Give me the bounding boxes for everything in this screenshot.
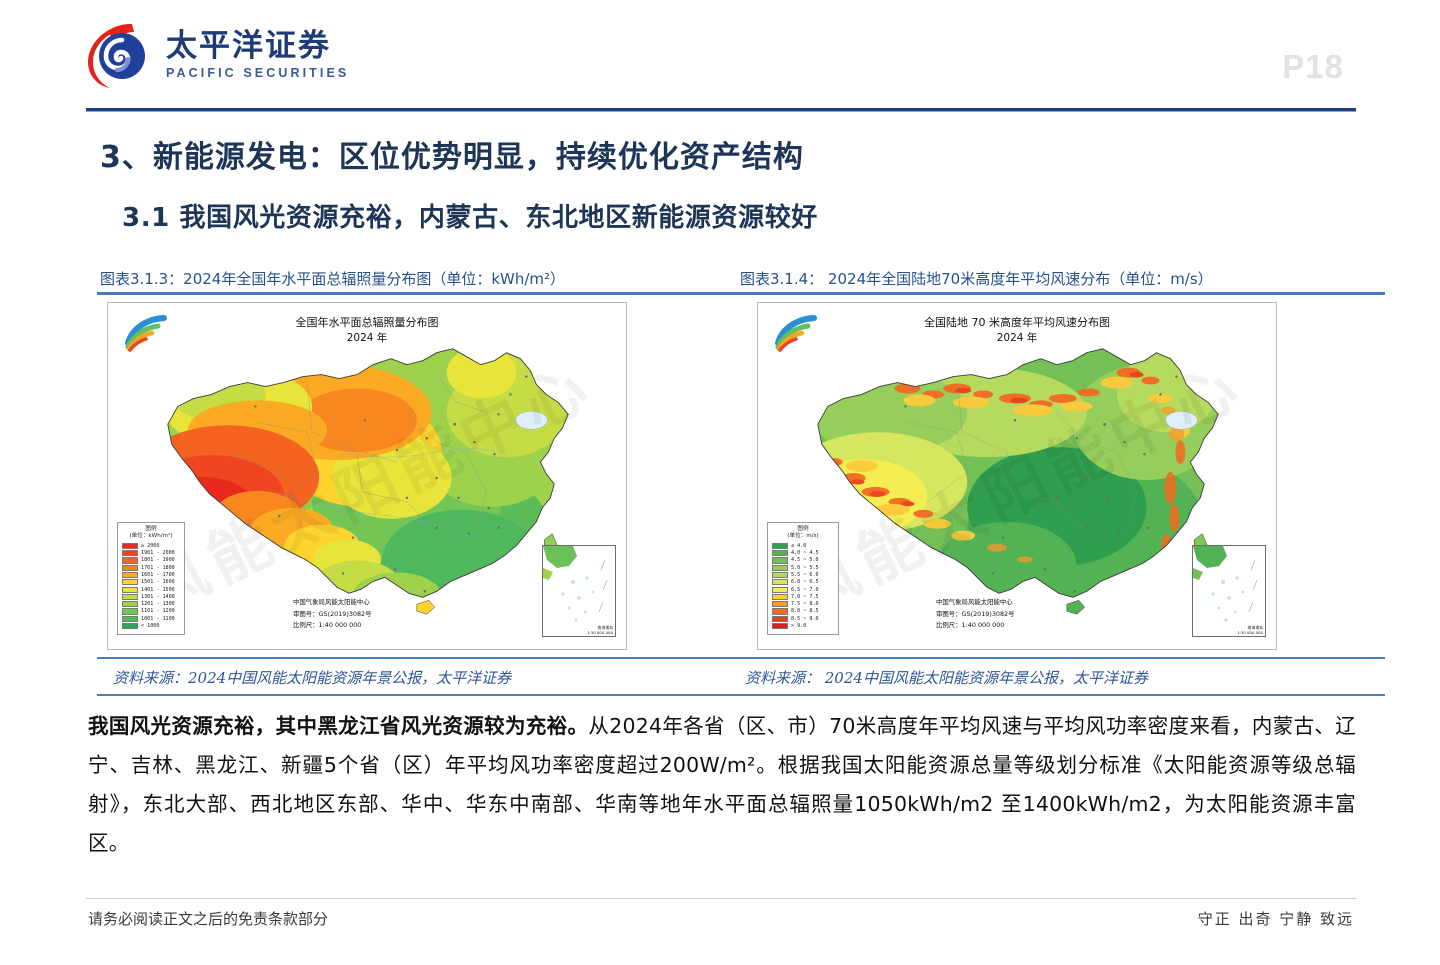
legend-swatch <box>772 543 788 549</box>
legend-label: 5.0 ~ 5.5 <box>791 565 819 571</box>
source-divider-bottom <box>97 694 1385 696</box>
map-attribution-right: 中国气象局风能太阳能中心 审图号：GS(2019)3082号 比例尺：1:40 … <box>936 597 1014 631</box>
caption-divider <box>97 292 1385 295</box>
legend-swatch <box>772 579 788 585</box>
legend-unit: (单位：kWh/m²) <box>122 533 180 541</box>
legend-label: 6.0 ~ 6.5 <box>791 579 819 585</box>
legend-item: 1201 - 1300 <box>122 601 180 608</box>
legend-item: 1501 - 1600 <box>122 579 180 586</box>
attribution-line: 审图号：GS(2019)3082号 <box>936 609 1014 620</box>
south-sea-inset-left: 南海诸岛1:30 000 000 <box>542 545 616 637</box>
figure-caption-left: 图表3.1.3：2024年全国年水平面总辐照量分布图（单位：kWh/m²） <box>100 268 565 289</box>
attribution-line: 中国气象局风能太阳能中心 <box>936 597 1014 608</box>
legend-rows: ≥ 20001901 - 20001801 - 19001701 - 18001… <box>122 543 180 630</box>
cma-logo-icon <box>772 313 820 353</box>
legend-label: 1601 - 1700 <box>141 572 175 578</box>
legend-label: 8.5 ~ 9.0 <box>791 616 819 622</box>
brand-name-en: PACIFIC SECURITIES <box>166 66 349 80</box>
legend-label: 4.0 ~ 4.5 <box>791 550 819 556</box>
legend-label: 1301 - 1400 <box>141 594 175 600</box>
legend-item: 4.0 ~ 4.5 <box>772 550 834 557</box>
legend-item: 1301 - 1400 <box>122 594 180 601</box>
legend-rows: ≤ 4.04.0 ~ 4.54.5 ~ 5.05.0 ~ 5.55.5 ~ 6.… <box>772 543 834 630</box>
body-lead: 我国风光资源充裕，其中黑龙江省风光资源较为充裕。 <box>88 714 588 738</box>
legend-label: 5.5 ~ 6.0 <box>791 572 819 578</box>
legend-item: 1701 - 1800 <box>122 564 180 571</box>
legend-item: 1101 - 1200 <box>122 608 180 615</box>
brand-name-cn: 太平洋证券 <box>166 30 349 63</box>
header-divider <box>86 108 1356 111</box>
attribution-line: 比例尺：1:40 000 000 <box>936 620 1014 631</box>
source-right: 资料来源： 2024中国风能太阳能资源年景公报，太平洋证券 <box>745 667 1148 688</box>
legend-label: 1101 - 1200 <box>141 608 175 614</box>
pacific-securities-swirl-logo-icon <box>82 18 156 92</box>
legend-item: 4.5 ~ 5.0 <box>772 557 834 564</box>
legend-label: 7.5 ~ 8.0 <box>791 601 819 607</box>
legend-swatch <box>772 565 788 571</box>
section-title: 3、新能源发电：区位优势明显，持续优化资产结构 <box>100 132 804 176</box>
legend-label: 1201 - 1300 <box>141 601 175 607</box>
legend-unit: (单位：m/s) <box>772 533 834 541</box>
slide-page: 太平洋证券 PACIFIC SECURITIES P18 3、新能源发电：区位优… <box>0 0 1440 965</box>
legend-label: 8.0 ~ 8.5 <box>791 608 819 614</box>
legend-item: 1001 - 1100 <box>122 615 180 622</box>
source-left: 资料来源：2024中国风能太阳能资源年景公报，太平洋证券 <box>113 667 511 688</box>
legend-swatch <box>772 557 788 563</box>
brand-logo: 太平洋证券 PACIFIC SECURITIES <box>82 18 349 92</box>
legend-swatch <box>122 616 138 622</box>
legend-label: > 9.0 <box>791 623 806 629</box>
legend-item: ≥ 2000 <box>122 543 180 550</box>
legend-label: < 1000 <box>141 623 159 629</box>
legend-item: 7.5 ~ 8.0 <box>772 601 834 608</box>
legend-label: 1401 - 1500 <box>141 587 175 593</box>
legend-item: 6.0 ~ 6.5 <box>772 579 834 586</box>
legend-swatch <box>122 594 138 600</box>
legend-swatch <box>122 601 138 607</box>
legend-title: 图例 <box>772 526 834 534</box>
inset-label: 南海诸岛1:30 000 000 <box>1237 625 1263 635</box>
page-number: P18 <box>1282 48 1344 86</box>
inset-label: 南海诸岛1:30 000 000 <box>587 625 613 635</box>
legend-label: ≤ 4.0 <box>791 543 806 549</box>
legend-item: 5.0 ~ 5.5 <box>772 564 834 571</box>
page-header: 太平洋证券 PACIFIC SECURITIES P18 <box>0 0 1440 120</box>
legend-solar: 图例 (单位：kWh/m²) ≥ 20001901 - 20001801 - 1… <box>117 522 185 635</box>
footer-disclaimer: 请务必阅读正文之后的免责条款部分 <box>88 908 328 929</box>
legend-label: 4.5 ~ 5.0 <box>791 557 819 563</box>
legend-swatch <box>772 601 788 607</box>
legend-swatch <box>122 579 138 585</box>
legend-item: 8.5 ~ 9.0 <box>772 615 834 622</box>
legend-item: 7.0 ~ 7.5 <box>772 594 834 601</box>
legend-label: 1501 - 1600 <box>141 579 175 585</box>
legend-item: 1801 - 1900 <box>122 557 180 564</box>
footer-slogan: 守正 出奇 宁静 致远 <box>1198 908 1354 929</box>
legend-label: 1901 - 2000 <box>141 550 175 556</box>
south-sea-inset-right: 南海诸岛1:30 000 000 <box>1192 545 1266 637</box>
legend-swatch <box>772 594 788 600</box>
legend-swatch <box>772 608 788 614</box>
subsection-title: 3.1 我国风光资源充裕，内蒙古、东北地区新能源资源较好 <box>122 197 818 234</box>
legend-swatch <box>772 572 788 578</box>
legend-item: 5.5 ~ 6.0 <box>772 572 834 579</box>
legend-swatch <box>772 587 788 593</box>
body-paragraph: 我国风光资源充裕，其中黑龙江省风光资源较为充裕。从2024年各省（区、市）70米… <box>88 707 1356 863</box>
legend-swatch <box>122 543 138 549</box>
legend-item: 1901 - 2000 <box>122 550 180 557</box>
legend-swatch <box>122 550 138 556</box>
legend-item: > 9.0 <box>772 623 834 630</box>
legend-label: 1701 - 1800 <box>141 565 175 571</box>
legend-label: 1001 - 1100 <box>141 616 175 622</box>
attribution-line: 中国气象局风能太阳能中心 <box>293 597 371 608</box>
figure-caption-right: 图表3.1.4： 2024年全国陆地70米高度年平均风速分布（单位：m/s） <box>740 268 1213 289</box>
legend-swatch <box>772 623 788 629</box>
map-attribution-left: 中国气象局风能太阳能中心 审图号：GS(2019)3082号 比例尺：1:40 … <box>293 597 371 631</box>
attribution-line: 审图号：GS(2019)3082号 <box>293 609 371 620</box>
legend-item: 6.5 ~ 7.0 <box>772 586 834 593</box>
legend-item: < 1000 <box>122 623 180 630</box>
legend-item: 8.0 ~ 8.5 <box>772 608 834 615</box>
legend-item: 1401 - 1500 <box>122 586 180 593</box>
legend-swatch <box>122 623 138 629</box>
legend-swatch <box>122 608 138 614</box>
source-divider-top <box>97 657 1385 659</box>
figure-wind-speed-map: 风能太阳能中心 全国陆地 70 米高度年平均风速分布图 2024 年 图例 (单… <box>757 302 1277 650</box>
footer-divider <box>86 898 1356 899</box>
legend-item: ≤ 4.0 <box>772 543 834 550</box>
legend-swatch <box>122 572 138 578</box>
legend-swatch <box>122 587 138 593</box>
cma-logo-icon <box>122 313 170 353</box>
legend-label: 6.5 ~ 7.0 <box>791 587 819 593</box>
legend-swatch <box>122 557 138 563</box>
legend-wind: 图例 (单位：m/s) ≤ 4.04.0 ~ 4.54.5 ~ 5.05.0 ~… <box>767 522 839 635</box>
legend-item: 1601 - 1700 <box>122 572 180 579</box>
legend-swatch <box>122 565 138 571</box>
legend-label: 7.0 ~ 7.5 <box>791 594 819 600</box>
legend-label: ≥ 2000 <box>141 543 159 549</box>
legend-label: 1801 - 1900 <box>141 557 175 563</box>
figure-solar-irradiance-map: 风能太阳能中心 全国年水平面总辐照量分布图 2024 年 图例 (单位：kWh/… <box>107 302 627 650</box>
legend-title: 图例 <box>122 526 180 534</box>
legend-swatch <box>772 616 788 622</box>
attribution-line: 比例尺：1:40 000 000 <box>293 620 371 631</box>
legend-swatch <box>772 550 788 556</box>
